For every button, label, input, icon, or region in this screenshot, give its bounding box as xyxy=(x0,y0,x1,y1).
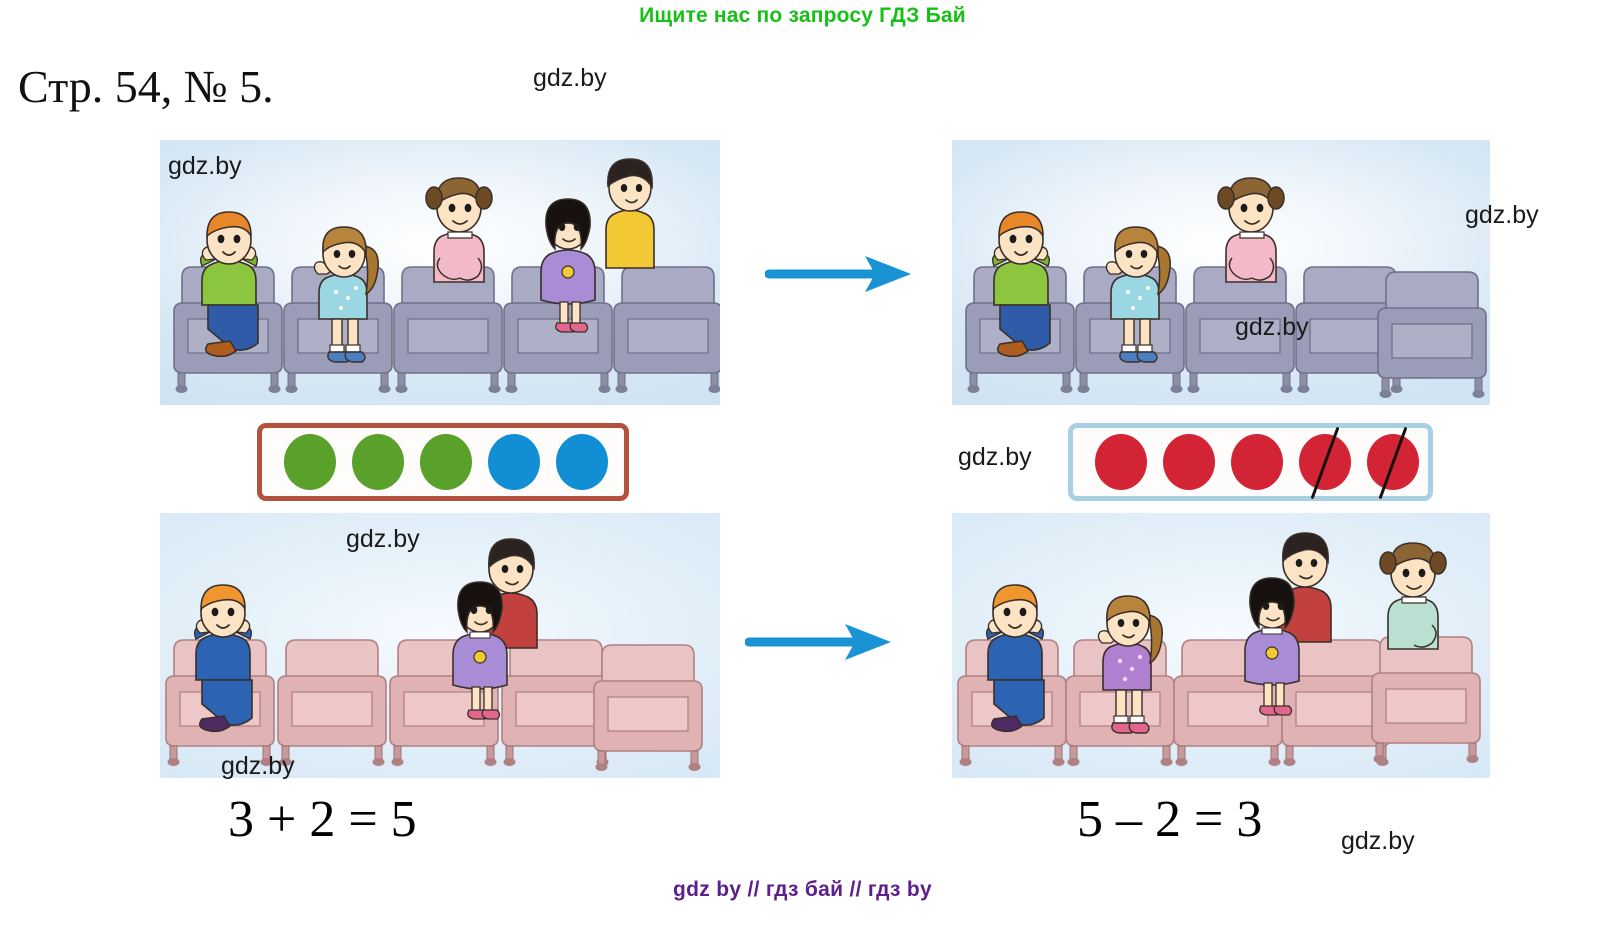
dot-green-3 xyxy=(420,434,472,490)
illustration-five-children-gray xyxy=(160,140,720,405)
dot-red-1 xyxy=(1095,434,1147,490)
child-5 xyxy=(1380,543,1446,649)
scene-top-left xyxy=(160,140,720,405)
watermark-1: gdz.by xyxy=(533,64,607,93)
arrow-right-icon xyxy=(765,250,915,298)
page-title: Стр. 54, № 5. xyxy=(18,60,274,113)
child-3 xyxy=(1218,178,1284,282)
equation-left: 3 + 2 = 5 xyxy=(228,790,417,849)
dot-green-1 xyxy=(284,434,336,490)
dot-red-2 xyxy=(1163,434,1215,490)
dot-box-right xyxy=(1068,423,1433,501)
promo-banner-bottom: gdz by // гдз бай // гдз by xyxy=(0,878,1605,902)
cross-out-stroke xyxy=(1311,427,1340,499)
watermark-5: gdz.by xyxy=(958,443,1032,472)
dot-red-3 xyxy=(1231,434,1283,490)
dot-blue-1 xyxy=(488,434,540,490)
arrow-right-icon xyxy=(745,618,895,666)
illustration-three-children-pink xyxy=(160,513,720,778)
child-3 xyxy=(426,178,492,282)
cross-out-stroke xyxy=(1379,427,1408,499)
scene-top-right xyxy=(952,140,1490,405)
dot-blue-2 xyxy=(556,434,608,490)
child-5 xyxy=(606,159,654,268)
equation-right: 5 – 2 = 3 xyxy=(1077,790,1262,849)
scene-bottom-right xyxy=(952,513,1490,778)
scene-bottom-left xyxy=(160,513,720,778)
dot-red-5-crossed xyxy=(1367,434,1419,490)
dot-box-left xyxy=(257,423,629,501)
illustration-three-children-gray xyxy=(952,140,1490,405)
dot-red-4-crossed xyxy=(1299,434,1351,490)
illustration-five-children-pink xyxy=(952,513,1490,778)
arrow-bottom xyxy=(745,618,895,666)
dot-green-2 xyxy=(352,434,404,490)
arrow-top xyxy=(765,250,915,298)
watermark-8: gdz.by xyxy=(1341,827,1415,856)
promo-banner-top: Ищите нас по запросу ГДЗ Бай xyxy=(0,4,1605,28)
